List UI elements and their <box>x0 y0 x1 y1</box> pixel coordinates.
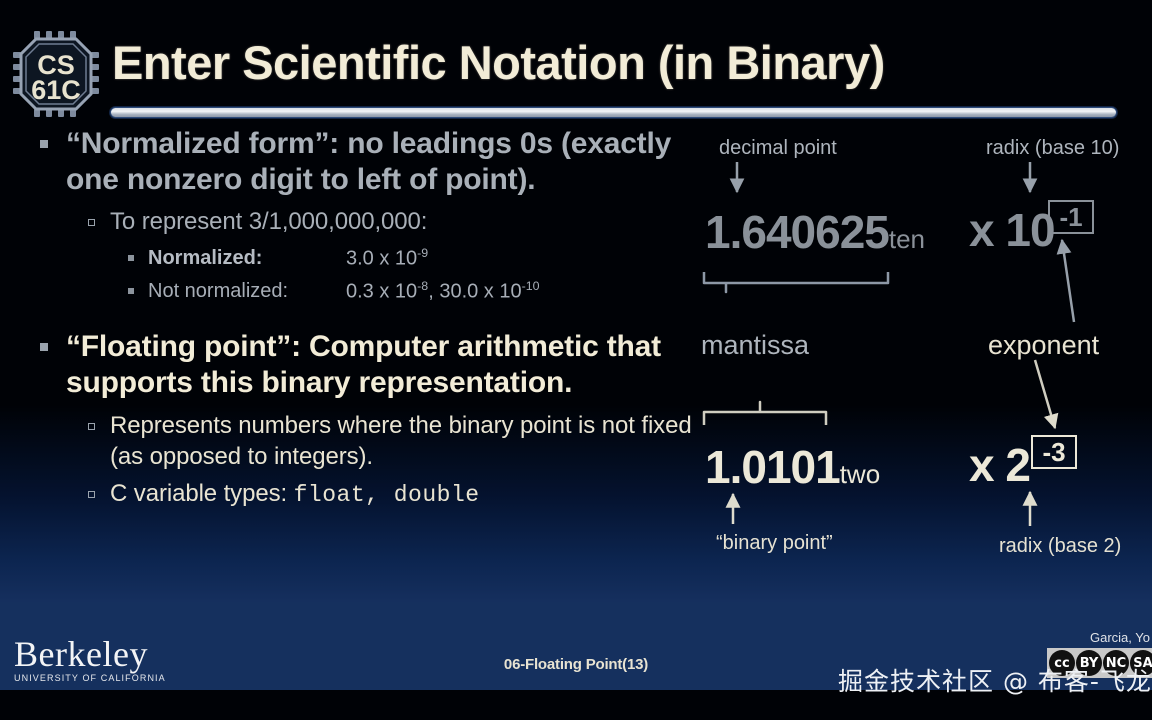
binary-radix-expression: x 2 <box>969 438 1030 492</box>
author-credit: Garcia, Yo <box>1090 630 1150 645</box>
label-exponent: exponent <box>988 330 1099 361</box>
diagram-connectors <box>0 0 1152 720</box>
label-mantissa-decimal: mantissa <box>701 330 809 361</box>
arrow-exponent-to-binary-box <box>1035 360 1055 428</box>
decimal-exponent-box: -1 <box>1048 200 1094 234</box>
binary-exponent-box: -3 <box>1031 435 1077 469</box>
label-radix-base-2: radix (base 2) <box>999 535 1121 558</box>
scientific-notation-diagram: decimal point radix (base 10) 1.640625te… <box>0 0 1152 720</box>
slide: CS 61C Enter Scientific Notation (in Bin… <box>0 0 1152 720</box>
label-decimal-point: decimal point <box>719 137 837 160</box>
label-radix-base-10: radix (base 10) <box>986 137 1119 160</box>
arrow-exponent-to-decimal-box <box>1062 240 1074 322</box>
decimal-mantissa-expression: 1.640625ten <box>705 205 925 259</box>
watermark: 掘金技术社区 @ 布客-飞龙 <box>838 662 1152 698</box>
berkeley-subtitle: UNIVERSITY OF CALIFORNIA <box>14 673 166 683</box>
brace-binary-mantissa <box>704 402 826 425</box>
label-binary-point: “binary point” <box>716 532 833 555</box>
decimal-radix-expression: x 10 <box>969 203 1055 257</box>
brace-decimal-mantissa <box>704 272 888 292</box>
binary-mantissa-expression: 1.0101two <box>705 440 880 494</box>
